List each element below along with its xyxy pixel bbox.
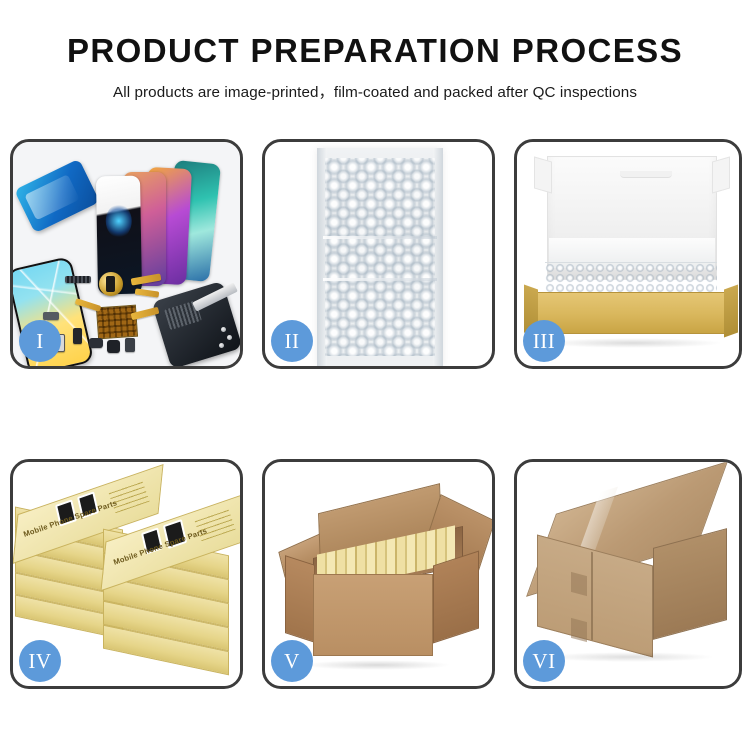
drop-shadow: [543, 338, 723, 348]
drop-shadow: [543, 652, 715, 662]
bubble-pattern: [325, 158, 435, 356]
kraft-box-tray: [535, 292, 727, 334]
header: PRODUCT PREPARATION PROCESS All products…: [0, 34, 750, 102]
step-badge: VI: [523, 640, 565, 682]
step-badge: V: [271, 640, 313, 682]
carton-tab: [571, 618, 587, 642]
small-part-icon: [125, 338, 135, 352]
chip-grid-icon: [96, 305, 138, 340]
steps-grid: I II: [10, 139, 743, 689]
small-part-icon: [107, 340, 120, 353]
step-badge: II: [271, 320, 313, 362]
open-carton: [279, 496, 479, 664]
lid-notch: [620, 171, 672, 178]
small-part-icon: [89, 338, 103, 348]
flex-cable-icon: [135, 288, 160, 297]
step-panel-6[interactable]: VI: [514, 459, 742, 689]
product-preparation-infographic: PRODUCT PREPARATION PROCESS All products…: [0, 0, 750, 750]
connector-icon: [65, 276, 91, 283]
pouch-seam: [323, 278, 437, 281]
pouch-edge: [317, 148, 327, 366]
page-subtitle: All products are image-printed，film-coat…: [0, 80, 750, 102]
page-title: PRODUCT PREPARATION PROCESS: [0, 34, 750, 69]
vibration-motor-icon: [99, 272, 123, 296]
pouch-seam: [323, 236, 437, 239]
step-panel-3[interactable]: III: [514, 139, 742, 369]
carton-side-left: [285, 555, 315, 643]
carton-front-face: [313, 574, 433, 656]
bubble-wrap-pouch: [317, 148, 443, 366]
carton-tab: [571, 572, 587, 596]
carton-seam: [591, 552, 593, 641]
pouch-edge: [433, 148, 443, 366]
screw-icon: [221, 327, 226, 332]
step-panel-2[interactable]: II: [262, 139, 495, 369]
drop-shadow: [303, 660, 451, 670]
carton-side-right: [653, 528, 727, 640]
step-panel-4[interactable]: Mobile Phone Spare Parts Mobile Phone Sp…: [10, 459, 243, 689]
bubble-wrap-contents: [545, 262, 717, 296]
phone-fan-group: [73, 156, 240, 286]
step-badge: III: [523, 320, 565, 362]
screw-icon: [219, 343, 224, 348]
step-panel-1[interactable]: I: [10, 139, 243, 369]
small-part-icon: [73, 328, 82, 344]
sealed-carton: [527, 488, 733, 664]
step-badge: IV: [19, 640, 61, 682]
small-part-icon: [43, 312, 59, 320]
carton-side-right: [433, 551, 479, 644]
step-panel-5[interactable]: V: [262, 459, 495, 689]
screw-icon: [227, 335, 232, 340]
step-badge: I: [19, 320, 61, 362]
